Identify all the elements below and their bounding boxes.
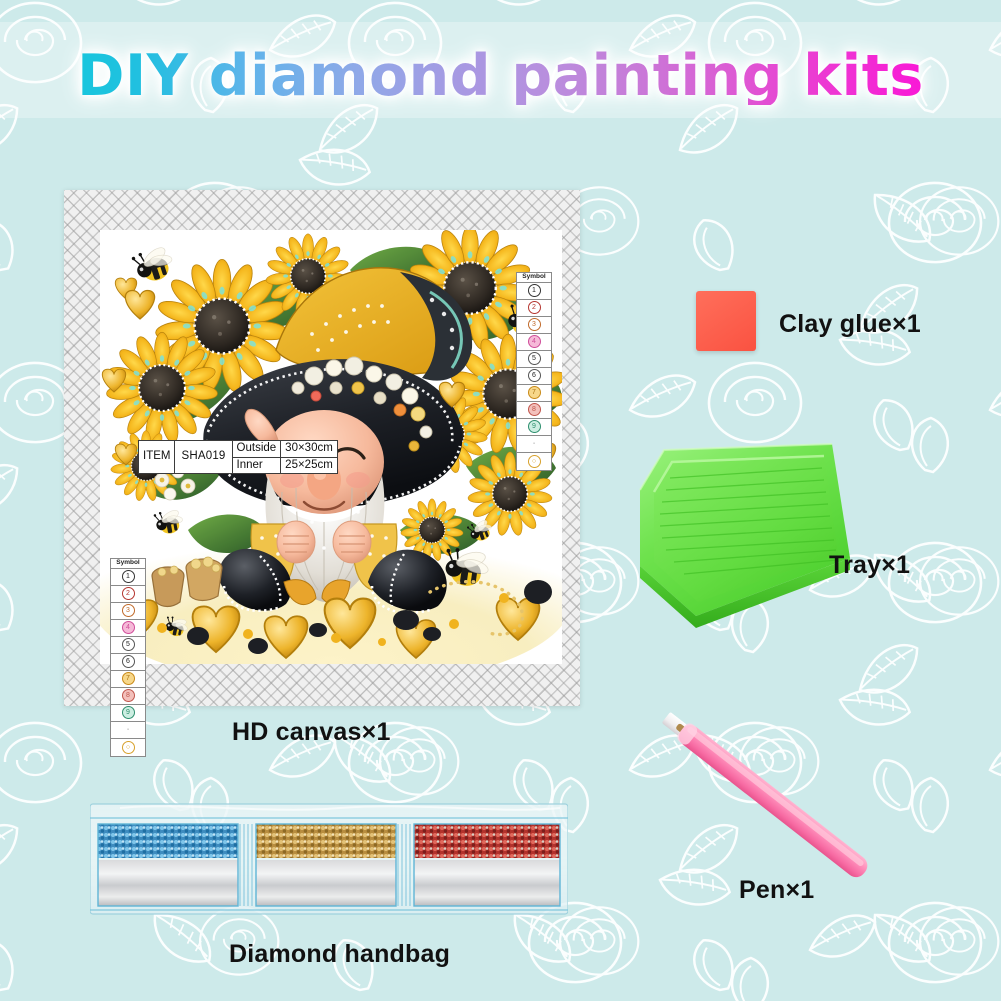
symbol-glyph: 6 xyxy=(122,655,135,668)
symbol-glyph: 1 xyxy=(528,284,541,297)
spec-item-code: SHA019 xyxy=(175,441,232,474)
symbol-glyph: 5 xyxy=(528,352,541,365)
symbol-glyph: 9 xyxy=(528,420,541,433)
symbol-glyph: · xyxy=(122,723,135,736)
tray-item xyxy=(636,438,856,628)
symbol-row: ○ xyxy=(111,739,145,756)
symbol-glyph: ○ xyxy=(528,455,541,468)
symbol-glyph: 9 xyxy=(122,706,135,719)
clay-glue-label: Clay glue×1 xyxy=(779,310,921,339)
hd-canvas-product: ITEM SHA019 Outside 30×30cm Inner 25×25c… xyxy=(64,190,580,706)
hd-canvas-label: HD canvas×1 xyxy=(232,718,391,747)
symbol-row: 7 xyxy=(111,671,145,688)
symbol-row: 4 xyxy=(517,334,551,351)
product-infographic: DIY diamond painting kits xyxy=(0,0,1001,1001)
symbol-glyph: 5 xyxy=(122,638,135,651)
symbol-glyph: ○ xyxy=(122,741,135,754)
symbol-legend-left: Symbol 1 2 3 4 5 6 7 8 9 · ○ xyxy=(110,558,146,757)
symbol-glyph: 6 xyxy=(528,369,541,382)
symbol-glyph: 4 xyxy=(528,335,541,348)
symbol-legend-right: Symbol 1 2 3 4 5 6 7 8 9 · ○ xyxy=(516,272,552,471)
symbol-glyph: 3 xyxy=(122,604,135,617)
symbol-legend-header: Symbol xyxy=(111,559,145,569)
symbol-glyph: · xyxy=(528,437,541,450)
symbol-glyph: 2 xyxy=(122,587,135,600)
symbol-row: 9 xyxy=(517,419,551,436)
symbol-glyph: 7 xyxy=(528,386,541,399)
symbol-legend-header: Symbol xyxy=(517,273,551,283)
symbol-row: 1 xyxy=(111,569,145,586)
symbol-row: 8 xyxy=(111,688,145,705)
symbol-row: · xyxy=(517,436,551,453)
symbol-glyph: 3 xyxy=(528,318,541,331)
diamond-handbag-label: Diamond handbag xyxy=(229,940,450,969)
clay-glue-item xyxy=(696,291,756,351)
diamond-handbag-item xyxy=(90,798,568,920)
symbol-glyph: 1 xyxy=(122,570,135,583)
symbol-row: 5 xyxy=(517,351,551,368)
spec-outside-label: Outside xyxy=(232,441,281,458)
symbol-row: 2 xyxy=(111,586,145,603)
symbol-glyph: 8 xyxy=(528,403,541,416)
symbol-row: 7 xyxy=(517,385,551,402)
symbol-row: ○ xyxy=(517,453,551,470)
spec-inner-label: Inner xyxy=(232,457,281,474)
page-title: DIY diamond painting kits xyxy=(0,48,1001,105)
spec-outside-value: 30×30cm xyxy=(281,441,338,458)
page-title-text: DIY diamond painting kits xyxy=(77,48,924,105)
symbol-row: 9 xyxy=(111,705,145,722)
canvas-print-area: ITEM SHA019 Outside 30×30cm Inner 25×25c… xyxy=(100,230,562,664)
item-spec-table: ITEM SHA019 Outside 30×30cm Inner 25×25c… xyxy=(138,440,338,474)
pen-label: Pen×1 xyxy=(739,876,814,905)
symbol-row: 4 xyxy=(111,620,145,637)
symbol-row: 8 xyxy=(517,402,551,419)
symbol-row: · xyxy=(111,722,145,739)
symbol-glyph: 8 xyxy=(122,689,135,702)
spec-item-label: ITEM xyxy=(139,441,175,474)
symbol-row: 3 xyxy=(111,603,145,620)
symbol-row: 6 xyxy=(517,368,551,385)
symbol-row: 3 xyxy=(517,317,551,334)
symbol-glyph: 4 xyxy=(122,621,135,634)
tray-label: Tray×1 xyxy=(829,551,910,580)
symbol-row: 2 xyxy=(517,300,551,317)
symbol-glyph: 7 xyxy=(122,672,135,685)
symbol-row: 5 xyxy=(111,637,145,654)
symbol-row: 6 xyxy=(111,654,145,671)
spec-inner-value: 25×25cm xyxy=(281,457,338,474)
symbol-row: 1 xyxy=(517,283,551,300)
symbol-glyph: 2 xyxy=(528,301,541,314)
